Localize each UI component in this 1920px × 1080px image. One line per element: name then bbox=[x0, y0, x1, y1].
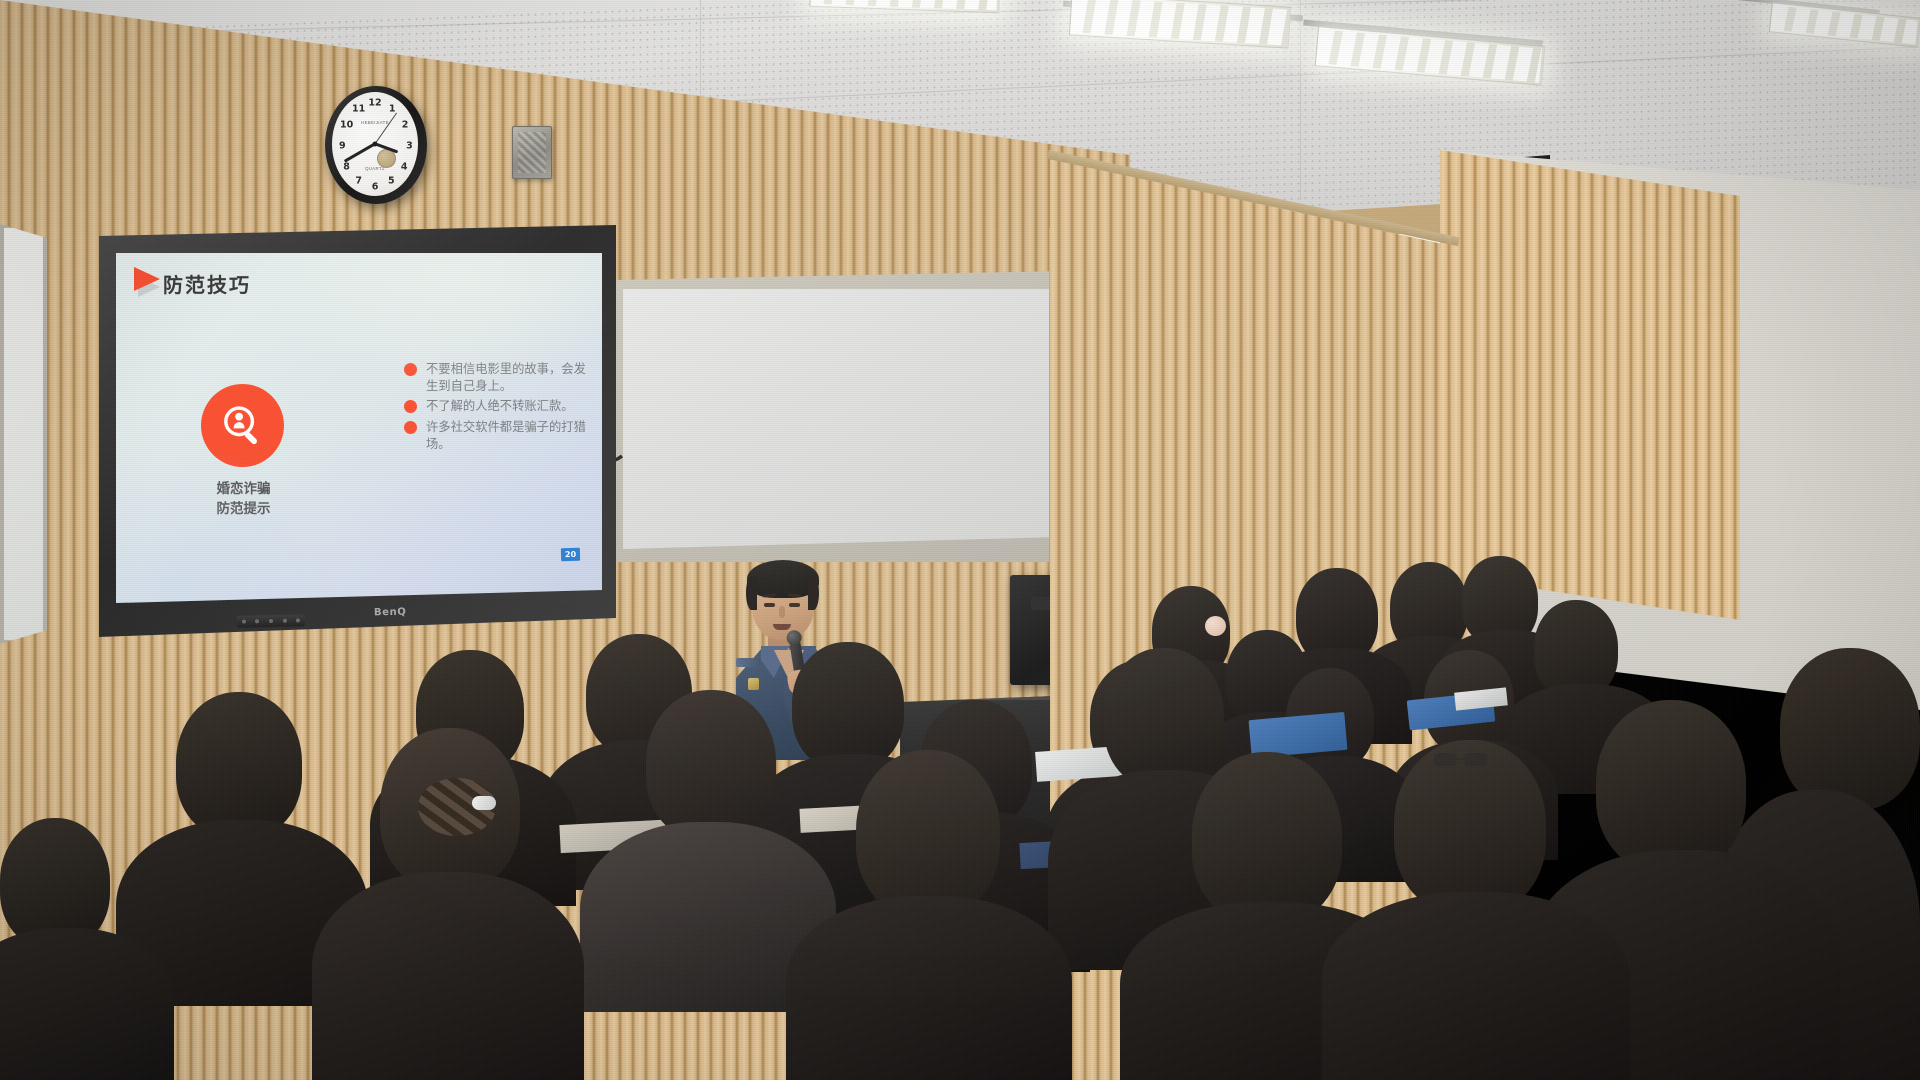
audience-head bbox=[1192, 752, 1342, 924]
clock-numeral-3: 3 bbox=[406, 141, 413, 152]
lecture-hall-photo: 12 1 2 3 4 5 6 7 8 9 10 11 HEBEIJIATE QU… bbox=[0, 0, 1920, 1080]
clock-numeral-2: 2 bbox=[402, 120, 409, 131]
clock-center-pin bbox=[373, 142, 378, 147]
clock-numeral-5: 5 bbox=[388, 176, 395, 187]
officer-nose bbox=[779, 606, 785, 618]
whiteboard bbox=[614, 271, 1066, 562]
officer-hair-side bbox=[808, 576, 819, 610]
hair-scrunchie bbox=[1205, 616, 1226, 636]
clock-numeral-1: 1 bbox=[389, 103, 396, 114]
officer-hair-side bbox=[746, 576, 757, 610]
clock-brand-text: HEBEIJIATE bbox=[361, 120, 389, 125]
display-button[interactable] bbox=[283, 619, 287, 623]
icon-caption: 婚恋诈骗 防范提示 bbox=[176, 479, 311, 518]
display-button[interactable] bbox=[296, 618, 300, 622]
audience-head bbox=[176, 692, 302, 838]
display-screen[interactable]: 防范技巧 婚恋诈骗 防范提示 不要相信电影里的故事，会发生到自己身上。 bbox=[116, 253, 602, 603]
clock-numeral-11: 11 bbox=[352, 103, 365, 114]
hair-clip bbox=[472, 796, 496, 810]
bullet-dot-icon bbox=[404, 400, 417, 413]
audience-shoulders bbox=[0, 928, 174, 1080]
audience-shoulders bbox=[312, 872, 584, 1080]
audience-head bbox=[856, 750, 1000, 916]
clock-numeral-6: 6 bbox=[372, 181, 379, 192]
wall-access-plate bbox=[512, 126, 552, 179]
clock-face: 12 1 2 3 4 5 6 7 8 9 10 11 HEBEIJIATE QU… bbox=[332, 92, 418, 196]
audience-head bbox=[1596, 700, 1746, 872]
wall-clock: 12 1 2 3 4 5 6 7 8 9 10 11 HEBEIJIATE QU… bbox=[325, 86, 427, 204]
bullet-list: 不要相信电影里的故事，会发生到自己身上。 不了解的人绝不转账汇款。 许多社交软件… bbox=[404, 361, 594, 457]
eyeglasses bbox=[1434, 752, 1488, 766]
list-item: 不要相信电影里的故事，会发生到自己身上。 bbox=[404, 361, 594, 394]
officer-eye bbox=[789, 603, 800, 607]
slide-title: 防范技巧 bbox=[163, 269, 251, 298]
list-item: 不了解的人绝不转账汇款。 bbox=[404, 398, 594, 415]
bullet-dot-icon bbox=[404, 421, 417, 434]
clock-numeral-4: 4 bbox=[401, 161, 408, 172]
clock-second-hand bbox=[375, 113, 398, 145]
display-corner-badge: 20 bbox=[561, 548, 580, 561]
clock-numeral-7: 7 bbox=[355, 176, 362, 187]
officer-epaulet bbox=[736, 658, 761, 667]
bullet-dot-icon bbox=[404, 363, 417, 376]
wood-slat-wall-far bbox=[1440, 150, 1740, 620]
display-button[interactable] bbox=[255, 619, 259, 623]
audience-head bbox=[1780, 648, 1920, 810]
benq-logo: BenQ bbox=[374, 607, 407, 619]
clock-numeral-12: 12 bbox=[368, 98, 381, 109]
display-button[interactable] bbox=[242, 620, 246, 624]
whiteboard-surface bbox=[623, 289, 1057, 549]
clock-numeral-9: 9 bbox=[339, 141, 346, 152]
benq-interactive-panel[interactable]: 防范技巧 婚恋诈骗 防范提示 不要相信电影里的故事，会发生到自己身上。 bbox=[99, 225, 616, 637]
audience-head bbox=[792, 642, 904, 770]
officer-badge bbox=[748, 678, 759, 690]
ceiling-seam bbox=[1300, 0, 1301, 200]
bullet-text: 许多社交软件都是骗子的打猎场。 bbox=[426, 419, 594, 452]
audience-shoulders bbox=[786, 896, 1072, 1080]
romance-fraud-icon bbox=[201, 384, 284, 467]
audience-head bbox=[1104, 648, 1224, 788]
clock-numeral-8: 8 bbox=[343, 161, 350, 172]
officer-eye bbox=[764, 603, 775, 607]
bullet-text: 不了解的人绝不转账汇款。 bbox=[426, 398, 574, 415]
audience-head bbox=[646, 690, 776, 840]
clock-numeral-10: 10 bbox=[340, 120, 353, 131]
clock-minute-hand bbox=[344, 143, 376, 163]
presentation-slide: 防范技巧 婚恋诈骗 防范提示 不要相信电影里的故事，会发生到自己身上。 bbox=[116, 253, 602, 603]
audience-shoulders bbox=[1322, 892, 1630, 1080]
display-control-buttons[interactable] bbox=[237, 614, 305, 627]
display-button[interactable] bbox=[269, 619, 273, 623]
bullet-text: 不要相信电影里的故事，会发生到自己身上。 bbox=[426, 361, 594, 394]
list-item: 许多社交软件都是骗子的打猎场。 bbox=[404, 419, 594, 452]
audience-head bbox=[1394, 740, 1546, 914]
left-whiteboard-edge bbox=[0, 224, 47, 644]
